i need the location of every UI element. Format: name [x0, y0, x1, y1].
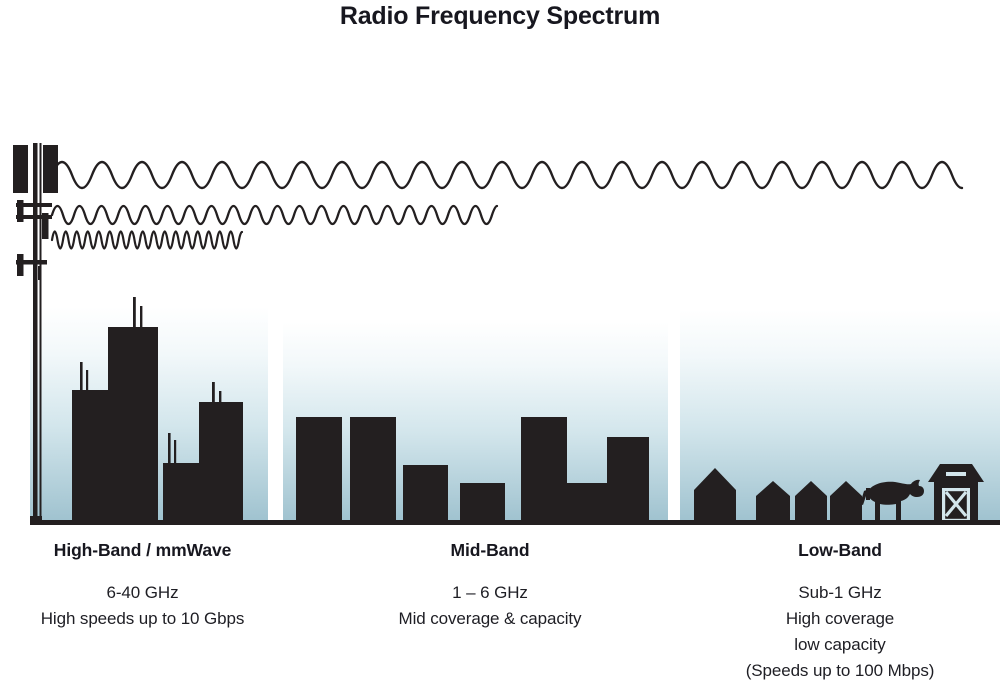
- skyscraper: [163, 463, 201, 522]
- midrise-building: [296, 417, 342, 522]
- band-block-mid-band: Mid-Band 1 – 6 GHz Mid coverage & capaci…: [350, 540, 630, 632]
- band-speeds-low-band: (Speeds up to 100 Mbps): [680, 658, 1000, 684]
- spectrum-illustration: [0, 130, 1000, 530]
- ground-line: [30, 520, 1000, 525]
- skyscraper: [199, 402, 243, 522]
- midrise-building: [567, 483, 607, 522]
- building-spire: [168, 433, 171, 463]
- band-capacity-low-band: low capacity: [680, 632, 1000, 658]
- wave-low-band: [52, 162, 962, 188]
- illustration-stage: [0, 130, 1000, 530]
- midrise-building: [350, 417, 396, 522]
- skyscraper: [72, 390, 110, 522]
- band-title-mid-band: Mid-Band: [350, 540, 630, 561]
- antenna-panel-top-left: [13, 145, 28, 193]
- band-block-low-band: Low-Band Sub-1 GHz High coverage low cap…: [680, 540, 1000, 684]
- antenna-panel-mid-right: [42, 213, 49, 239]
- building-spire: [174, 440, 176, 463]
- band-description-high-band: High speeds up to 10 Gbps: [0, 606, 285, 632]
- antenna-panel-low-left: [17, 254, 24, 276]
- barn-loft-window: [946, 472, 966, 476]
- page-title: Radio Frequency Spectrum: [0, 2, 1000, 31]
- building-spire: [140, 306, 142, 329]
- band-title-high-band: High-Band / mmWave: [0, 540, 285, 561]
- midrise-building: [403, 465, 448, 522]
- band-title-low-band: Low-Band: [680, 540, 1000, 561]
- band-label-row: High-Band / mmWave 6-40 GHz High speeds …: [0, 540, 1000, 700]
- band-frequency-mid-band: 1 – 6 GHz: [350, 580, 630, 606]
- building-spire: [133, 297, 136, 329]
- wave-mid-band: [52, 206, 497, 224]
- band-description-mid-band: Mid coverage & capacity: [350, 606, 630, 632]
- midrise-building: [521, 417, 567, 522]
- band-frequency-low-band: Sub-1 GHz: [680, 580, 1000, 606]
- wave-high-band: [52, 232, 242, 249]
- building-spire: [86, 370, 88, 392]
- band-block-high-band: High-Band / mmWave 6-40 GHz High speeds …: [0, 540, 285, 632]
- building-spire: [80, 362, 83, 392]
- midrise-building: [460, 483, 505, 522]
- infographic-root: Radio Frequency Spectrum: [0, 0, 1000, 700]
- midrise-building: [607, 437, 649, 522]
- barn-icon: [928, 464, 984, 522]
- band-coverage-low-band: High coverage: [680, 606, 1000, 632]
- antenna-panel-mid-left: [17, 200, 24, 222]
- band-frequency-high-band: 6-40 GHz: [0, 580, 285, 606]
- skyscraper: [108, 327, 158, 522]
